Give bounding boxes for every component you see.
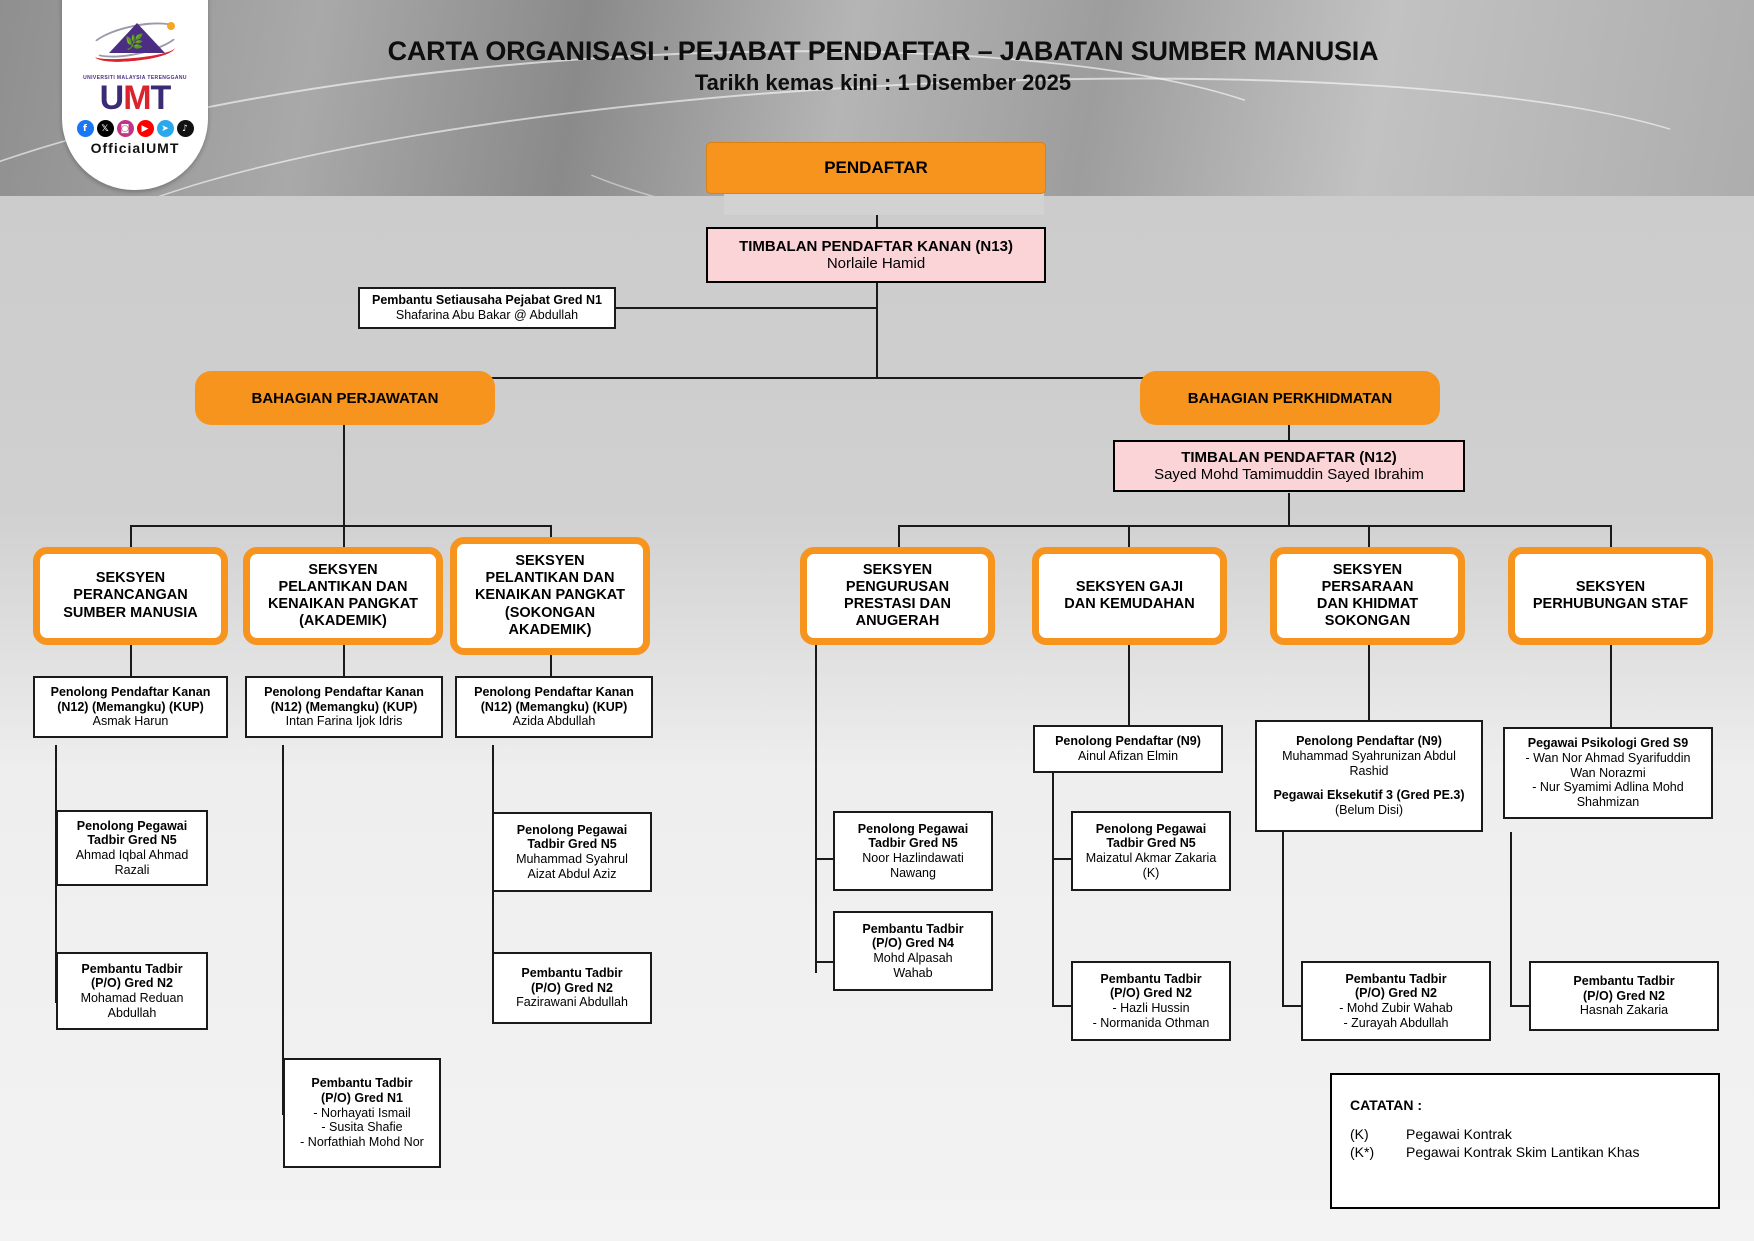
staff-perhubungan-1[interactable]: Pembantu Tadbir (P/O) Gred N2 Hasnah Zak… (1529, 961, 1719, 1031)
x-twitter-icon[interactable]: 𝕏 (97, 120, 114, 137)
connector-perhubungan-staff1 (1510, 1005, 1529, 1007)
sec-persaraan-line-2: DAN KHIDMAT (1317, 596, 1418, 613)
connector-prestasi-staff1 (815, 961, 834, 963)
staff-title: Pegawai Psikologi Gred S9 (1528, 736, 1688, 751)
staff-name: Hasnah Zakaria (1580, 1003, 1668, 1018)
node-setiausaha-name: Shafarina Abu Bakar @ Abdullah (396, 308, 578, 323)
staff-persaraan-1[interactable]: Pembantu Tadbir (P/O) Gred N2 - Mohd Zub… (1301, 961, 1491, 1041)
staff-prestasi-1[interactable]: Pembantu Tadbir (P/O) Gred N4 Mohd Alpas… (833, 911, 993, 991)
facebook-icon[interactable]: f (77, 120, 94, 137)
spine-persaraan (1282, 832, 1284, 1005)
umt-wordmark: UMT (100, 81, 171, 115)
staff-title: Pembantu Tadbir (1100, 972, 1201, 987)
telegram-icon[interactable]: ➤ (157, 120, 174, 137)
staff-title: (N12) (Memangku) (KUP) (481, 700, 628, 715)
sec-gaji-line-1: DAN KEMUDAHAN (1064, 596, 1195, 613)
staff-title: Tadbir Gred N5 (1106, 836, 1195, 851)
legend-row: (K*) Pegawai Kontrak Skim Lantikan Khas (1350, 1143, 1639, 1161)
section-perhubungan-staf[interactable]: SEKSYEN PERHUBUNGAN STAF (1508, 547, 1713, 645)
section-perancangan-sumber-manusia[interactable]: SEKSYEN PERANCANGAN SUMBER MANUSIA (33, 547, 228, 645)
staff-title: (P/O) Gred N2 (1583, 989, 1665, 1004)
connector-perancangan-staff0 (130, 645, 132, 676)
staff-title: Penolong Pegawai (517, 823, 627, 838)
sec-perancangan-line-2: SUMBER MANUSIA (63, 605, 198, 622)
social-icon-row: f 𝕏 ◙ ▶ ➤ ♪ (77, 120, 194, 137)
legend-key: (K*) (1350, 1143, 1406, 1161)
connector-persaraan-staff1 (1282, 1005, 1301, 1007)
sec-perancangan-line-1: PERANCANGAN (63, 587, 198, 604)
page-title: CARTA ORGANISASI : PEJABAT PENDAFTAR – J… (228, 36, 1538, 67)
staff-title: Tadbir Gred N5 (87, 833, 176, 848)
staff-title: Penolong Pegawai (77, 819, 187, 834)
staff-persaraan-0[interactable]: Penolong Pendaftar (N9) Muhammad Syahrun… (1255, 720, 1483, 832)
node-timbalan-kanan-name: Norlaile Hamid (827, 255, 925, 272)
connector-timbalan-trunk (876, 283, 878, 379)
node-bahagian-perjawatan[interactable]: BAHAGIAN PERJAWATAN (195, 371, 495, 425)
staff-title: (P/O) Gred N1 (321, 1091, 403, 1106)
staff-name: Maizatul Akmar Zakaria (1086, 851, 1217, 866)
node-bahagian-perkhidmatan[interactable]: BAHAGIAN PERKHIDMATAN (1140, 371, 1440, 425)
sec-prestasi-line-2: PRESTASI DAN (844, 596, 951, 613)
staff-name: Aizat Abdul Aziz (528, 867, 617, 882)
legend-row: (K) Pegawai Kontrak (1350, 1125, 1639, 1143)
node-timbalan-kanan-title: TIMBALAN PENDAFTAR KANAN (N13) (739, 238, 1013, 255)
node-pendaftar-title: PENDAFTAR (824, 158, 928, 178)
staff-gaji-1[interactable]: Penolong Pegawai Tadbir Gred N5 Maizatul… (1071, 811, 1231, 891)
staff-title: Pembantu Tadbir (1573, 974, 1674, 989)
section-gaji-kemudahan[interactable]: SEKSYEN GAJI DAN KEMUDAHAN (1032, 547, 1227, 645)
sec-sokongan-line-0: SEKSYEN (475, 553, 625, 570)
staff-name: Noor Hazlindawati (862, 851, 963, 866)
sec-perhubungan-line-1: PERHUBUNGAN STAF (1533, 596, 1688, 613)
connector-gaji-staff1 (1052, 858, 1071, 860)
staff-title: (P/O) Gred N2 (91, 976, 173, 991)
spine-prestasi (815, 645, 817, 973)
sec-persaraan-line-1: PERSARAAN (1317, 579, 1418, 596)
node-timbalan-pendaftar-kanan[interactable]: TIMBALAN PENDAFTAR KANAN (N13) Norlaile … (706, 227, 1046, 283)
staff-title: Pembantu Tadbir (1345, 972, 1446, 987)
connector-prestasi-staff0 (815, 858, 834, 860)
staff-title: Penolong Pegawai (858, 822, 968, 837)
staff-gaji-0[interactable]: Penolong Pendaftar (N9) Ainul Afizan Elm… (1033, 725, 1223, 773)
staff-name: Muhammad Syahrul (516, 852, 628, 867)
staff-title: Penolong Pendaftar (N9) (1055, 734, 1201, 749)
staff-name: - Nur Syamimi Adlina Mohd (1532, 780, 1683, 795)
staff-akademik-1[interactable]: Pembantu Tadbir (P/O) Gred N1 - Norhayat… (283, 1058, 441, 1168)
section-persaraan-khidmat-sokongan[interactable]: SEKSYEN PERSARAAN DAN KHIDMAT SOKONGAN (1270, 547, 1465, 645)
staff-name: Rashid (1350, 764, 1389, 779)
legend-title: CATATAN : (1350, 1097, 1718, 1113)
instagram-icon[interactable]: ◙ (117, 120, 134, 137)
staff-name: Razali (115, 863, 150, 878)
org-chart-page: 🌿 UNIVERSITI MALAYSIA TERENGGANU UMT f 𝕏… (0, 0, 1754, 1241)
staff-title: Penolong Pendaftar Kanan (264, 685, 424, 700)
connector-akademik-staff0 (343, 645, 345, 676)
staff-name: Mohd Alpasah (873, 951, 952, 966)
connector-perkhidmatan-timbalan (1288, 425, 1290, 440)
staff-name: - Wan Nor Ahmad Syarifuddin (1526, 751, 1691, 766)
connector-perjawatan-down (343, 425, 345, 525)
staff-title: Tadbir Gred N5 (868, 836, 957, 851)
sec-akademik-line-3: (AKADEMIK) (268, 613, 418, 630)
staff-title: Penolong Pendaftar Kanan (51, 685, 211, 700)
pendaftar-shadow (724, 191, 1044, 215)
node-timbalan-n12-name: Sayed Mohd Tamimuddin Sayed Ibrahim (1154, 466, 1424, 483)
sec-sokongan-line-3: (SOKONGAN (475, 605, 625, 622)
node-pendaftar[interactable]: PENDAFTAR (706, 142, 1046, 194)
connector-perhubungan-staff0 (1610, 645, 1612, 727)
page-subtitle: Tarikh kemas kini : 1 Disember 2025 (228, 70, 1538, 96)
umt-emblem-icon: 🌿 (87, 21, 183, 79)
staff-name: Abdullah (108, 1006, 157, 1021)
staff-name: Ahmad Iqbal Ahmad (76, 848, 189, 863)
connector-gaji-staff0 (1128, 645, 1130, 725)
staff-prestasi-0[interactable]: Penolong Pegawai Tadbir Gred N5 Noor Haz… (833, 811, 993, 891)
staff-name: - Normanida Othman (1093, 1016, 1210, 1031)
staff-title: (P/O) Gred N2 (531, 981, 613, 996)
connector-gaji-staff2 (1052, 1005, 1071, 1007)
staff-sokongan-0[interactable]: Penolong Pendaftar Kanan (N12) (Memangku… (455, 676, 653, 738)
staff-name: Ainul Afizan Elmin (1078, 749, 1178, 764)
staff-name: - Hazli Hussin (1112, 1001, 1189, 1016)
staff-name: Intan Farina Ijok Idris (286, 714, 403, 729)
staff-name: Mohamad Reduan (81, 991, 184, 1006)
staff-name: Wahab (893, 966, 932, 981)
staff-perancangan-1[interactable]: Penolong Pegawai Tadbir Gred N5 Ahmad Iq… (56, 810, 208, 886)
node-setiausaha-title: Pembantu Setiausaha Pejabat Gred N1 (372, 293, 602, 308)
sec-gaji-line-0: SEKSYEN GAJI (1064, 579, 1195, 596)
connector-perkhidmatan-sections (898, 525, 1610, 527)
youtube-icon[interactable]: ▶ (137, 120, 154, 137)
staff-akademik-0[interactable]: Penolong Pendaftar Kanan (N12) (Memangku… (245, 676, 443, 738)
sec-akademik-line-1: PELANTIKAN DAN (268, 579, 418, 596)
staff-title: Pembantu Tadbir (521, 966, 622, 981)
staff-title: (N12) (Memangku) (KUP) (57, 700, 204, 715)
spine-gaji (1052, 743, 1054, 1005)
sec-perhubungan-line-0: SEKSYEN (1533, 579, 1688, 596)
staff-name: - Norfathiah Mohd Nor (300, 1135, 424, 1150)
staff-title: (P/O) Gred N2 (1355, 986, 1437, 1001)
staff-name: Asmak Harun (93, 714, 169, 729)
sec-akademik-line-0: SEKSYEN (268, 562, 418, 579)
spine-perhubungan (1510, 832, 1512, 1005)
legend-value: Pegawai Kontrak Skim Lantikan Khas (1406, 1143, 1639, 1161)
tiktok-icon[interactable]: ♪ (177, 120, 194, 137)
staff-title: Pembantu Tadbir (862, 922, 963, 937)
sec-akademik-line-2: KENAIKAN PANGKAT (268, 596, 418, 613)
staff-gaji-2[interactable]: Pembantu Tadbir (P/O) Gred N2 - Hazli Hu… (1071, 961, 1231, 1041)
sec-perancangan-line-0: SEKSYEN (63, 570, 198, 587)
staff-perancangan-0[interactable]: Penolong Pendaftar Kanan (N12) (Memangku… (33, 676, 228, 738)
bahagian-perkhidmatan-label: BAHAGIAN PERKHIDMATAN (1188, 390, 1392, 407)
staff-sokongan-2[interactable]: Pembantu Tadbir (P/O) Gred N2 Fazirawani… (492, 952, 652, 1024)
staff-name: (K) (1143, 866, 1160, 881)
sec-prestasi-line-1: PENGURUSAN (844, 579, 951, 596)
legend-value: Pegawai Kontrak (1406, 1125, 1639, 1143)
node-pembantu-setiausaha[interactable]: Pembantu Setiausaha Pejabat Gred N1 Shaf… (358, 287, 616, 329)
node-timbalan-pendaftar-n12[interactable]: TIMBALAN PENDAFTAR (N12) Sayed Mohd Tami… (1113, 440, 1465, 492)
staff-title: Penolong Pendaftar Kanan (474, 685, 634, 700)
legend-catatan: CATATAN : (K) Pegawai Kontrak (K*) Pegaw… (1330, 1073, 1720, 1209)
staff-perhubungan-0[interactable]: Pegawai Psikologi Gred S9 - Wan Nor Ahma… (1503, 727, 1713, 819)
staff-title: Pembantu Tadbir (311, 1076, 412, 1091)
sec-sokongan-line-1: PELANTIKAN DAN (475, 570, 625, 587)
sec-prestasi-line-0: SEKSYEN (844, 562, 951, 579)
staff-title: Penolong Pendaftar (N9) (1296, 734, 1442, 749)
sec-sokongan-line-2: KENAIKAN PANGKAT (475, 587, 625, 604)
banner-swoosh-3 (516, 0, 1754, 200)
sec-sokongan-line-4: AKADEMIK) (475, 622, 625, 639)
sec-prestasi-line-3: ANUGERAH (844, 613, 951, 630)
staff-name: - Susita Shafie (321, 1120, 402, 1135)
staff-title: Tadbir Gred N5 (527, 837, 616, 852)
connector-persaraan-staff0 (1368, 645, 1370, 720)
sec-persaraan-line-3: SOKONGAN (1317, 613, 1418, 630)
staff-perancangan-2[interactable]: Pembantu Tadbir (P/O) Gred N2 Mohamad Re… (56, 952, 208, 1030)
staff-title: Pembantu Tadbir (81, 962, 182, 977)
node-timbalan-n12-title: TIMBALAN PENDAFTAR (N12) (1181, 449, 1397, 466)
umt-logo-plaque: 🌿 UNIVERSITI MALAYSIA TERENGGANU UMT f 𝕏… (62, 0, 208, 190)
staff-name-secondary: (Belum Disi) (1335, 803, 1403, 818)
staff-name: Fazirawani Abdullah (516, 995, 628, 1010)
staff-name: - Norhayati Ismail (313, 1106, 410, 1121)
sec-persaraan-line-0: SEKSYEN (1317, 562, 1418, 579)
section-pelantikan-sokongan-akademik[interactable]: SEKSYEN PELANTIKAN DAN KENAIKAN PANGKAT … (450, 537, 650, 655)
legend-key: (K) (1350, 1125, 1406, 1143)
connector-secretary (615, 307, 878, 309)
staff-name: Wan Norazmi (1570, 766, 1645, 781)
official-umt-handle: OfficialUMT (91, 140, 180, 156)
bahagian-perjawatan-label: BAHAGIAN PERJAWATAN (252, 390, 439, 407)
legend-table: (K) Pegawai Kontrak (K*) Pegawai Kontrak… (1350, 1125, 1639, 1161)
staff-name: Azida Abdullah (513, 714, 596, 729)
connector-perjawatan-sections (130, 525, 550, 527)
staff-name: - Zurayah Abdullah (1344, 1016, 1449, 1031)
staff-name: Shahmizan (1577, 795, 1640, 810)
staff-title: (P/O) Gred N4 (872, 936, 954, 951)
staff-name: Nawang (890, 866, 936, 881)
connector-timbalan12-down (1288, 493, 1290, 525)
staff-title: Penolong Pegawai (1096, 822, 1206, 837)
section-pengurusan-prestasi-anugerah[interactable]: SEKSYEN PENGURUSAN PRESTASI DAN ANUGERAH (800, 547, 995, 645)
section-pelantikan-akademik[interactable]: SEKSYEN PELANTIKAN DAN KENAIKAN PANGKAT … (243, 547, 443, 645)
staff-title: (N12) (Memangku) (KUP) (271, 700, 418, 715)
staff-title-secondary: Pegawai Eksekutif 3 (Gred PE.3) (1273, 788, 1464, 803)
staff-name: Muhammad Syahrunizan Abdul (1282, 749, 1456, 764)
staff-name: - Mohd Zubir Wahab (1339, 1001, 1452, 1016)
staff-sokongan-1[interactable]: Penolong Pegawai Tadbir Gred N5 Muhammad… (492, 812, 652, 892)
staff-title: (P/O) Gred N2 (1110, 986, 1192, 1001)
